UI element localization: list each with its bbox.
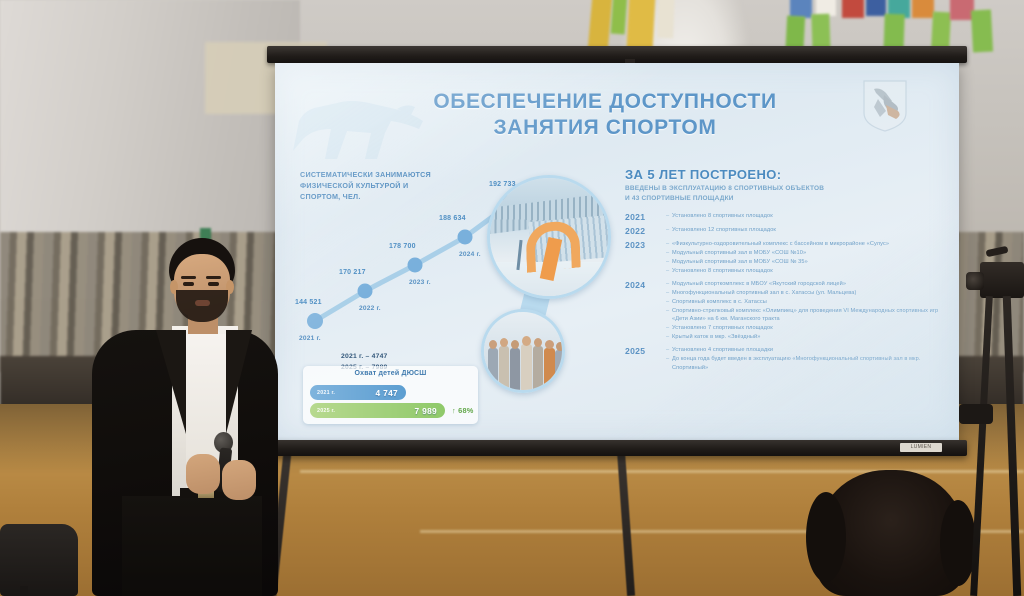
year-items-2021: Установлено 8 спортивных площадок (659, 212, 943, 222)
presenter-eye-left (183, 282, 194, 286)
dyussh-growth-badge: ↑ 68% (452, 406, 474, 415)
year-items-2024: Модульный спорткомплекс в МБОУ «Якутский… (659, 280, 943, 343)
banner-yellow-2 (627, 0, 656, 51)
chart-value-2024: 188 634 (439, 215, 466, 222)
slide-title: ОБЕСПЕЧЕНИЕ ДОСТУПНОСТИ ЗАНЯТИЯ СПОРТОМ (345, 89, 865, 142)
presenter-eye-right (208, 282, 219, 286)
chart-year-2024: 2024 г. (459, 251, 481, 258)
year-row-2023: 2023 «Физкультурно-оздоровительный компл… (625, 240, 943, 276)
year-items-2022: Установлено 12 спортивных площадок (659, 226, 943, 236)
presenter-beard (176, 290, 228, 322)
year-items-2023: «Физкультурно-оздоровительный комплекс с… (659, 240, 943, 276)
dyussh-card-title: Охват детей ДЮСШ (303, 370, 478, 377)
year-item: Спортивный комплекс в с. Хатассы (666, 298, 943, 307)
crowd-body (521, 344, 532, 392)
crowd-body (510, 348, 520, 392)
chart-value-2023: 178 700 (389, 243, 416, 250)
crowd-body (499, 346, 509, 392)
chair-leg (20, 586, 28, 596)
built-subtitle-line2: И 43 СПОРТИВНЫЕ ПЛОЩАДКИ (625, 194, 943, 204)
crowd-body (555, 350, 565, 392)
dyussh-bar-2021: 2021 г. 4 747 (310, 385, 406, 400)
side-equipment-box (959, 404, 993, 424)
year-item: До конца года будет введен в эксплуатаци… (666, 355, 943, 372)
presenter-hand-left (186, 454, 220, 494)
built-block-subtitle: ВВЕДЕНЫ В ЭКСПЛУАТАЦИЮ 8 СПОРТИВНЫХ ОБЪЕ… (625, 184, 943, 204)
projection-screen: ОБЕСПЕЧЕНИЕ ДОСТУПНОСТИ ЗАНЯТИЯ СПОРТОМ … (267, 46, 967, 476)
year-row-2025: 2025 Установлено 4 спортивные площадки Д… (625, 346, 943, 373)
dyussh-bar-2021-value: 4 747 (376, 388, 398, 398)
year-rows: 2021 Установлено 8 спортивных площадок 2… (625, 212, 943, 373)
year-item: Многофункциональный спортивный зал в с. … (666, 289, 943, 298)
crowd-head (556, 342, 564, 351)
dyussh-coverage-card: Охват детей ДЮСШ 2021 г. 4 747 2025 г. 7… (303, 366, 478, 424)
crowd-head (489, 340, 497, 349)
yakutsk-coat-of-arms-icon (862, 79, 908, 133)
year-item: Установлено 7 спортивных площадок (666, 324, 943, 333)
presentation-scene: ОБЕСПЕЧЕНИЕ ДОСТУПНОСТИ ЗАНЯТИЯ СПОРТОМ … (0, 0, 1024, 596)
video-camera-body (980, 262, 1024, 298)
dyussh-bar-2021-year: 2021 г. (317, 390, 335, 396)
dyussh-bar-2025-year: 2025 г. (317, 408, 335, 414)
chart-value-2021: 144 521 (295, 299, 322, 306)
screen-bottom-rail (267, 440, 967, 456)
sports-complex-photo (487, 175, 611, 299)
year-item: Установлено 8 спортивных площадок (666, 267, 943, 276)
dyussh-bar-2025: 2025 г. 7 989 (310, 403, 445, 418)
year-label-2022: 2022 (625, 226, 659, 236)
year-label-2024: 2024 (625, 280, 659, 343)
crowd-head (500, 338, 508, 347)
year-item: Спортивно-стрелковый комплекс «Олимпиец»… (666, 307, 943, 324)
crowd-head (534, 338, 542, 347)
slide-title-line1: ОБЕСПЕЧЕНИЕ ДОСТУПНОСТИ (345, 89, 865, 115)
projector-screen-brand: LUMIEN (900, 443, 942, 452)
year-label-2023: 2023 (625, 240, 659, 276)
crowd-body (488, 348, 498, 392)
presenter-lapel-left (156, 330, 186, 434)
children-group-image (484, 312, 562, 390)
year-item: Установлено 12 спортивных площадок (666, 226, 943, 235)
slide-title-line2: ЗАНЯТИЯ СПОРТОМ (345, 115, 865, 141)
sports-complex-image (490, 178, 608, 296)
year-items-2025: Установлено 4 спортивные площадки До кон… (659, 346, 943, 373)
dyussh-bar-row-2021: 2021 г. 4 747 (310, 385, 478, 400)
crowd-body (544, 348, 555, 392)
children-group-photo (481, 309, 565, 393)
presenter-brow-right (206, 276, 221, 279)
banner-flag-navy (866, 0, 886, 16)
presenter-lapel-right (226, 330, 252, 434)
audience-hair-strand (806, 492, 846, 582)
presenter-trousers (122, 496, 262, 596)
crowd-body (533, 346, 543, 392)
dyussh-bar-row-2025: 2025 г. 7 989 ↑ 68% (310, 403, 478, 418)
banner-green-1 (611, 0, 628, 34)
built-in-5-years-block: ЗА 5 ЛЕТ ПОСТРОЕНО: ВВЕДЕНЫ В ЭКСПЛУАТАЦ… (625, 167, 943, 377)
banner-flag-orange (912, 0, 934, 18)
chair (0, 524, 78, 596)
presenter-brow-left (181, 276, 196, 279)
year-item: Установлено 8 спортивных площадок (666, 212, 943, 221)
built-block-title: ЗА 5 ЛЕТ ПОСТРОЕНО: (625, 167, 943, 182)
chart-value-2022: 170 217 (339, 269, 366, 276)
chart-note-1: 2021 г. – 4747 (341, 352, 388, 363)
built-subtitle-line1: ВВЕДЕНЫ В ЭКСПЛУАТАЦИЮ 8 СПОРТИВНЫХ ОБЪЕ… (625, 184, 943, 194)
chart-year-2021: 2021 г. (299, 335, 321, 342)
banner-flag-red (842, 0, 864, 18)
year-row-2022: 2022 Установлено 12 спортивных площадок (625, 226, 943, 236)
year-item: Крытый каток в мкр. «Звёздный» (666, 333, 943, 342)
dyussh-bar-2025-value: 7 989 (415, 406, 437, 416)
crowd-head (511, 340, 519, 349)
year-row-2024: 2024 Модульный спорткомплекс в МБОУ «Яку… (625, 280, 943, 343)
banner-cream (657, 0, 675, 38)
crowd-head (522, 336, 531, 346)
year-item: Модульный спорткомплекс в МБОУ «Якутский… (666, 280, 943, 289)
year-item: Модульный спортивный зал в МОБУ «СОШ №10… (666, 249, 943, 258)
presenter-hand-right (222, 460, 256, 500)
year-item: Установлено 4 спортивные площадки (666, 346, 943, 355)
video-camera-lens (966, 272, 984, 290)
year-row-2021: 2021 Установлено 8 спортивных площадок (625, 212, 943, 222)
slide-content: ОБЕСПЕЧЕНИЕ ДОСТУПНОСТИ ЗАНЯТИЯ СПОРТОМ … (275, 63, 959, 440)
crowd-head (545, 340, 554, 349)
screen-top-rail (267, 46, 967, 63)
year-label-2021: 2021 (625, 212, 659, 222)
chart-year-2023: 2023 г. (409, 279, 431, 286)
chart-year-2022: 2022 г. (359, 305, 381, 312)
year-item: Модульный спортивный зал в МОБУ «СОШ № 3… (666, 258, 943, 267)
year-item: «Физкультурно-оздоровительный комплекс с… (666, 240, 943, 249)
banner-green-6 (971, 10, 993, 53)
year-label-2025: 2025 (625, 346, 659, 373)
screen-surface: ОБЕСПЕЧЕНИЕ ДОСТУПНОСТИ ЗАНЯТИЯ СПОРТОМ … (275, 63, 959, 440)
presenter-mouth (195, 300, 210, 306)
